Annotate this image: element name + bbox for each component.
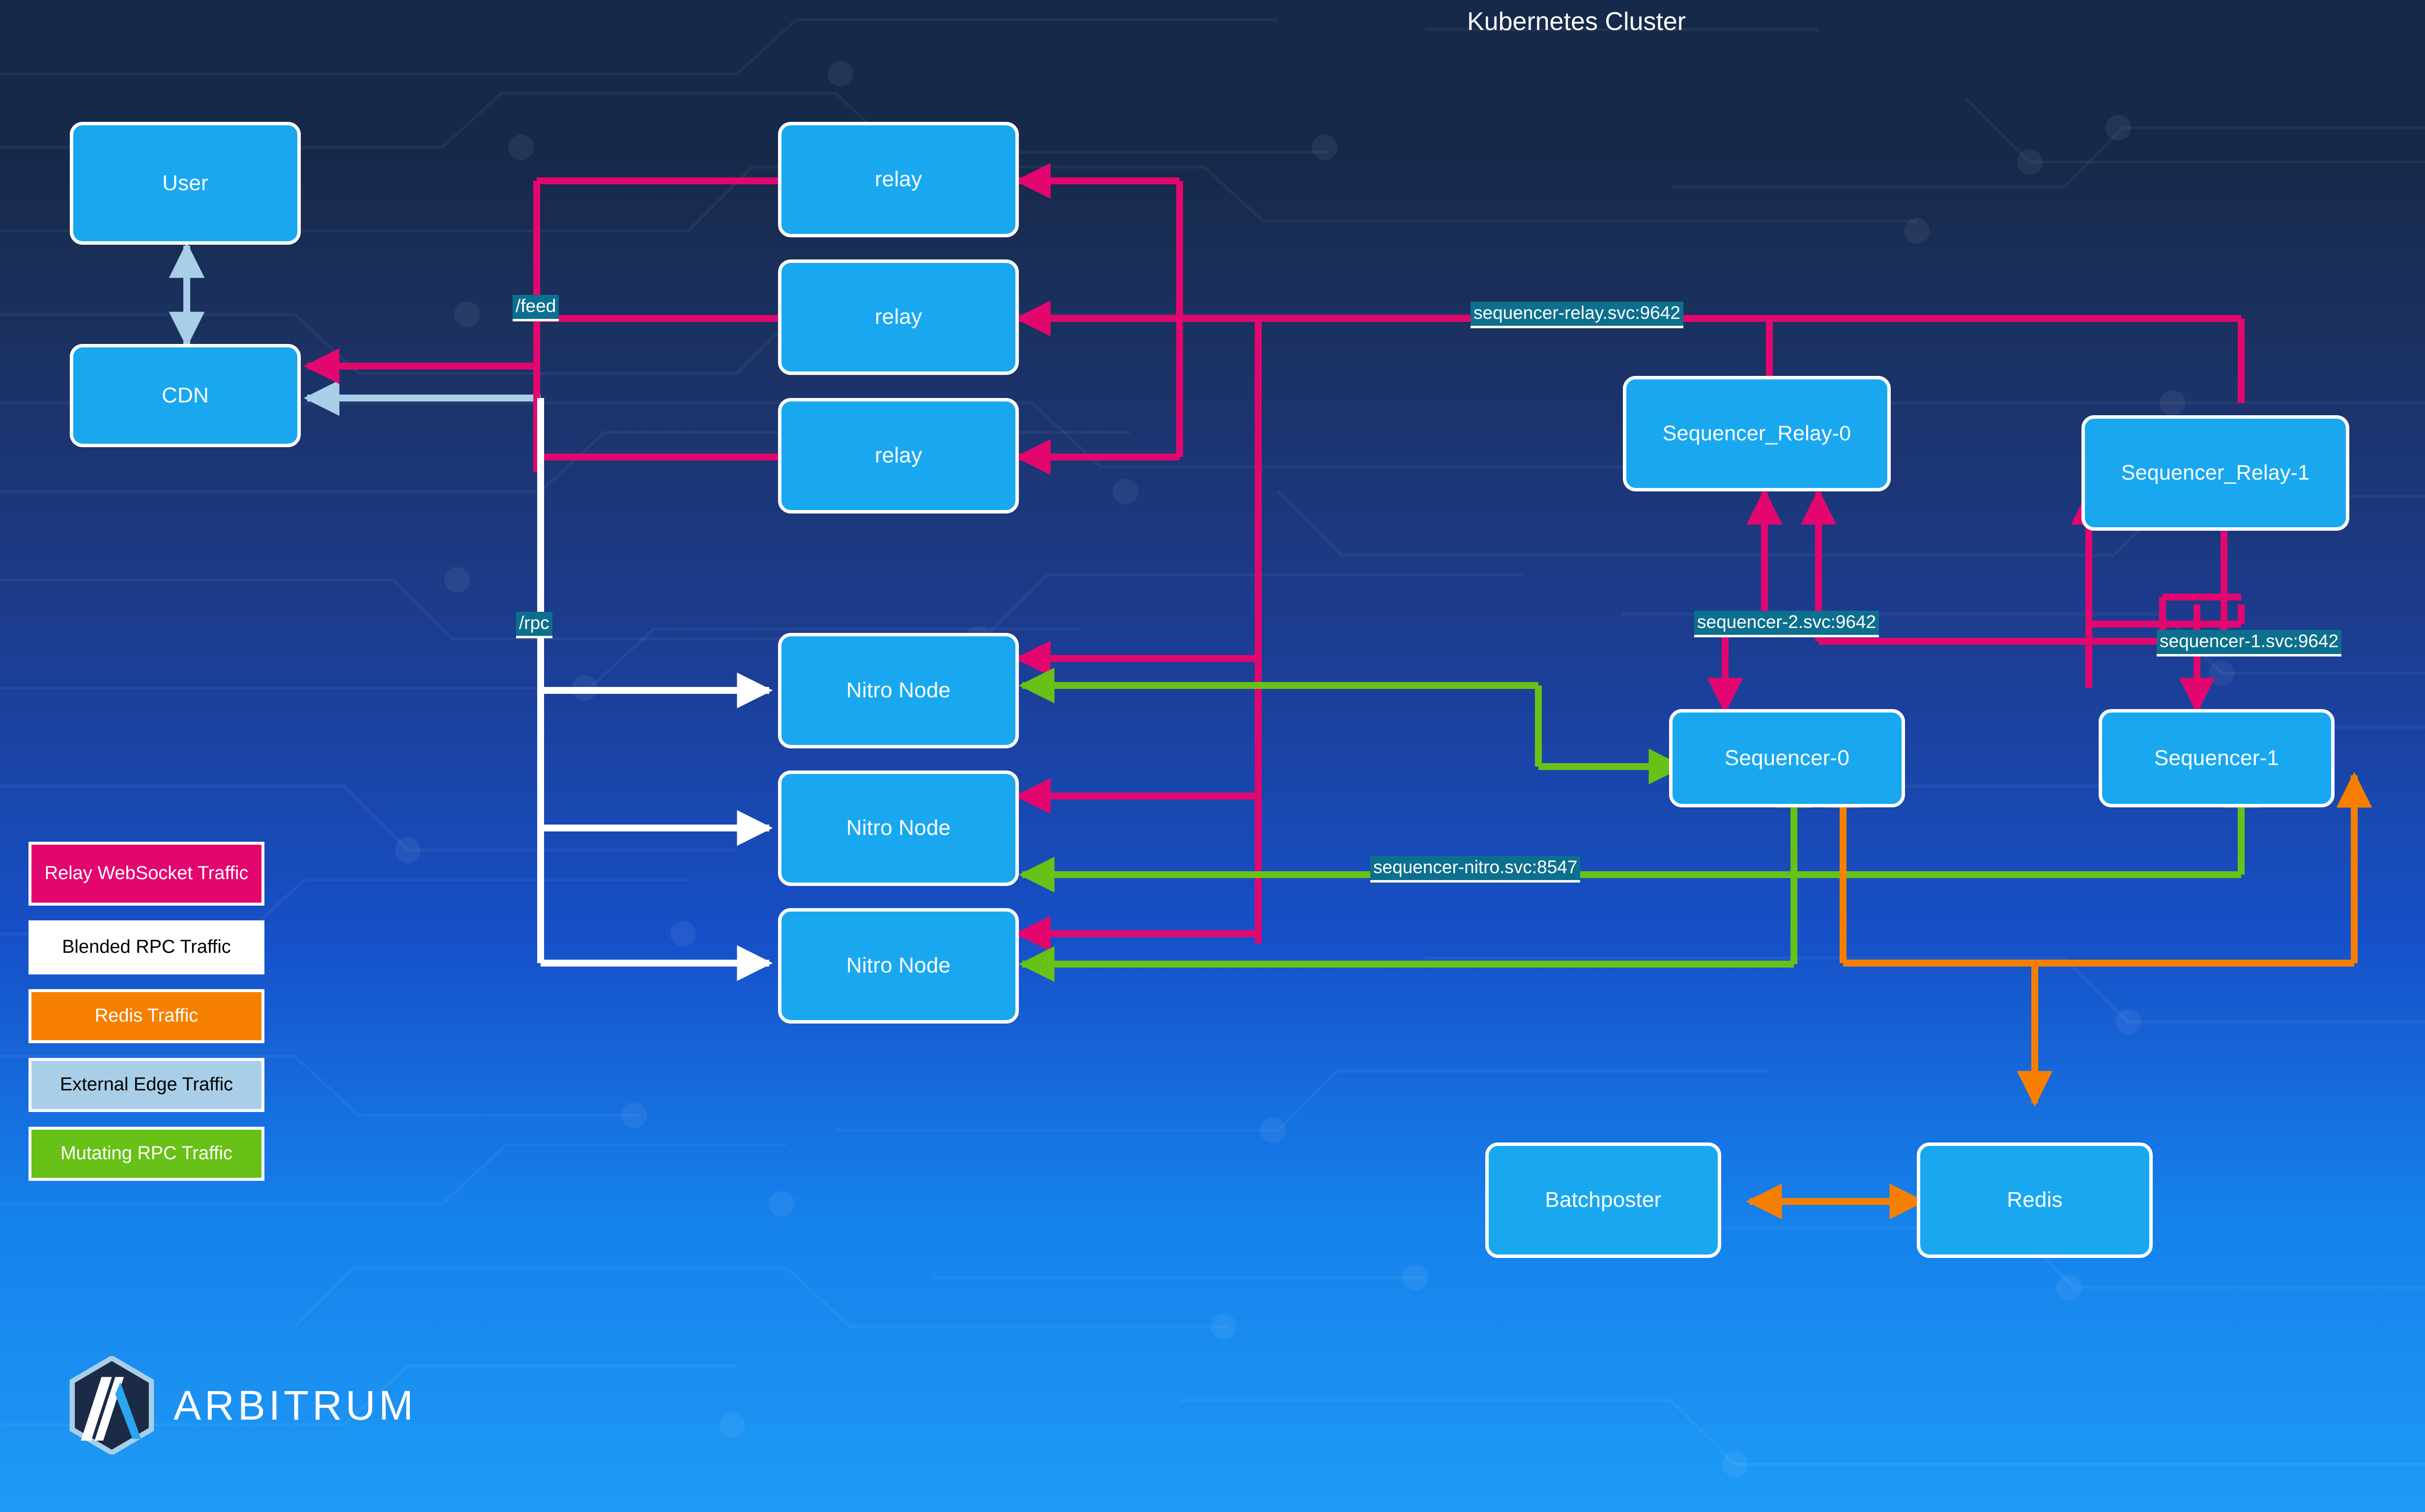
legend: Relay WebSocket Traffic Blended RPC Traf… bbox=[29, 842, 264, 1196]
edge-label-sequencer-relay-svc: sequencer-relay.svc:9642 bbox=[1471, 302, 1683, 328]
legend-item-external-edge: External Edge Traffic bbox=[29, 1058, 264, 1112]
legend-item-blended-rpc: Blended RPC Traffic bbox=[29, 920, 264, 974]
legend-item-mutating-rpc: Mutating RPC Traffic bbox=[29, 1127, 264, 1181]
node-sequencer-relay-1[interactable]: Sequencer_Relay-1 bbox=[2081, 415, 2349, 531]
node-batchposter[interactable]: Batchposter bbox=[1485, 1142, 1721, 1258]
legend-item-relay-websocket: Relay WebSocket Traffic bbox=[29, 842, 264, 906]
arbitrum-logo-icon bbox=[69, 1356, 155, 1455]
legend-label: Redis Traffic bbox=[95, 1005, 198, 1027]
legend-label: Relay WebSocket Traffic bbox=[45, 862, 249, 885]
node-nitro-3[interactable]: Nitro Node bbox=[778, 908, 1019, 1024]
arbitrum-brand: ARBITRUM bbox=[69, 1356, 417, 1455]
node-sequencer-1[interactable]: Sequencer-1 bbox=[2099, 709, 2335, 807]
node-user[interactable]: User bbox=[70, 122, 301, 245]
edge-label-sequencer-nitro-svc: sequencer-nitro.svc:8547 bbox=[1370, 856, 1580, 883]
node-relay-1[interactable]: relay bbox=[778, 122, 1019, 237]
node-nitro-1[interactable]: Nitro Node bbox=[778, 633, 1019, 748]
edge-label-sequencer-1-svc: sequencer-1.svc:9642 bbox=[2157, 630, 2341, 656]
node-sequencer-0[interactable]: Sequencer-0 bbox=[1669, 709, 1905, 807]
node-sequencer-relay-0[interactable]: Sequencer_Relay-0 bbox=[1623, 376, 1891, 491]
connection-layer bbox=[0, 0, 2425, 1512]
node-relay-2[interactable]: relay bbox=[778, 259, 1019, 375]
legend-label: Mutating RPC Traffic bbox=[60, 1142, 232, 1165]
node-relay-3[interactable]: relay bbox=[778, 398, 1019, 514]
diagram-canvas: User CDN relay relay relay Nitro Node Ni… bbox=[0, 0, 2425, 1512]
legend-item-redis: Redis Traffic bbox=[29, 989, 264, 1043]
node-cdn[interactable]: CDN bbox=[70, 344, 301, 447]
edge-label-sequencer-2-svc: sequencer-2.svc:9642 bbox=[1694, 611, 1879, 637]
arbitrum-wordmark: ARBITRUM bbox=[173, 1382, 417, 1429]
edge-blended-rpc bbox=[541, 398, 769, 963]
node-redis[interactable]: Redis bbox=[1917, 1142, 2153, 1258]
node-nitro-2[interactable]: Nitro Node bbox=[778, 770, 1019, 886]
page-title: Kubernetes Cluster bbox=[1467, 7, 1686, 36]
legend-label: Blended RPC Traffic bbox=[62, 936, 231, 959]
edge-label-rpc: /rpc bbox=[516, 612, 552, 638]
edge-redis bbox=[1750, 775, 2354, 1201]
legend-label: External Edge Traffic bbox=[60, 1074, 233, 1096]
edge-mutating-rpc bbox=[1022, 685, 2241, 964]
edge-label-feed: /feed bbox=[513, 295, 559, 321]
